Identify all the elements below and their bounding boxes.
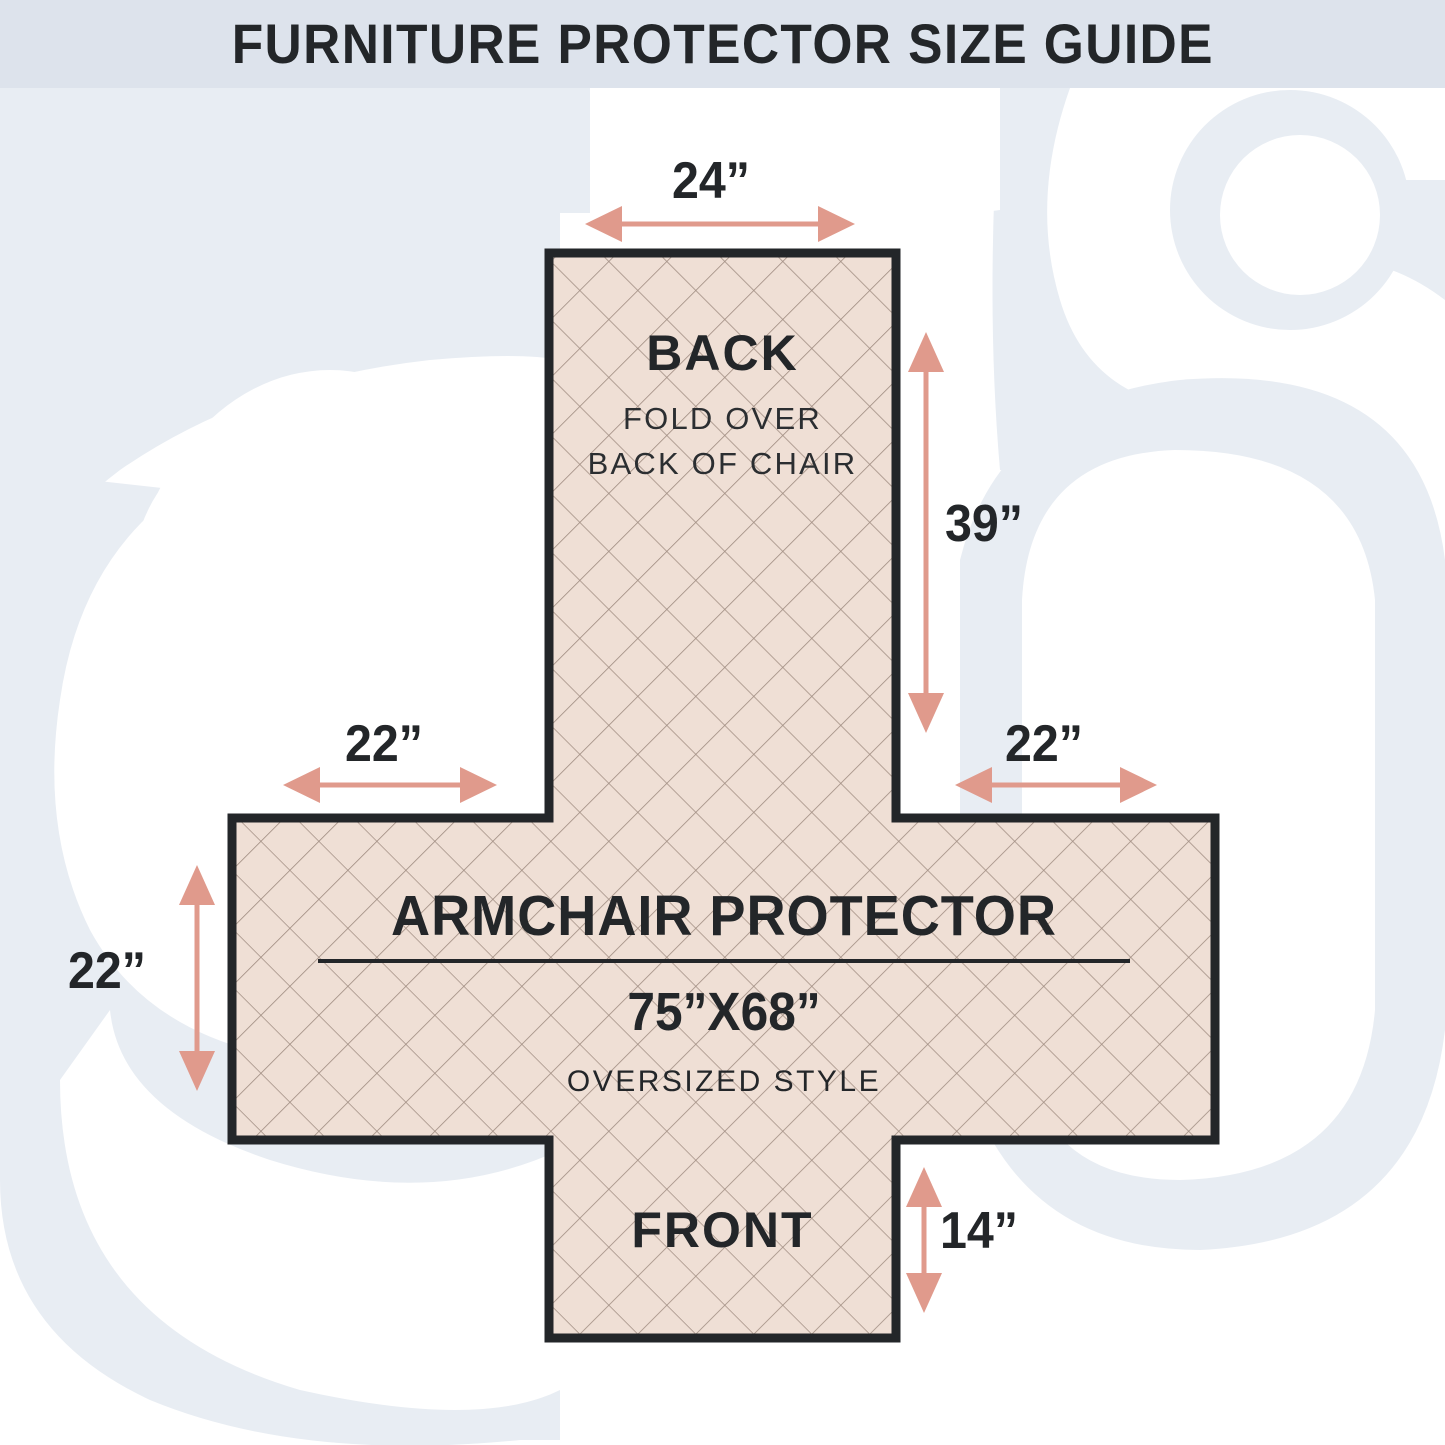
- back-panel-sub-line-2: BACK OF CHAIR: [549, 448, 896, 479]
- front-panel-labels: FRONT: [549, 1205, 896, 1255]
- product-size-label: 75”X68”: [350, 985, 1097, 1039]
- center-label-block: ARMCHAIR PROTECTOR 75”X68” OVERSIZED STY…: [318, 888, 1130, 1097]
- front-panel-heading: FRONT: [549, 1205, 896, 1255]
- title-divider: [318, 959, 1130, 963]
- back-panel-labels: BACK FOLD OVER BACK OF CHAIR: [549, 328, 896, 479]
- dimension-arrow-back-height: [908, 332, 944, 733]
- header-band: FURNITURE PROTECTOR SIZE GUIDE: [0, 0, 1445, 88]
- page-title: FURNITURE PROTECTOR SIZE GUIDE: [231, 16, 1213, 72]
- back-panel-sub-line-1: FOLD OVER: [549, 403, 896, 434]
- dimension-label-left-arm-width: 22”: [345, 718, 423, 770]
- dimension-arrow-back-width: [585, 206, 855, 242]
- dimension-arrow-front-height: [906, 1167, 942, 1313]
- back-panel-heading: BACK: [549, 328, 896, 378]
- dimension-label-front-height: 14”: [940, 1205, 1018, 1257]
- dimension-arrow-arm-height: [179, 865, 215, 1091]
- dimension-label-right-arm-width: 22”: [1005, 718, 1083, 770]
- size-guide-infographic: FURNITURE PROTECTOR SIZE GUIDE: [0, 0, 1445, 1445]
- dimension-label-arm-height: 22”: [68, 945, 146, 997]
- product-style-label: OVERSIZED STYLE: [318, 1067, 1130, 1097]
- dimension-label-back-width: 24”: [672, 155, 750, 207]
- product-name-label: ARMCHAIR PROTECTOR: [338, 888, 1109, 945]
- dimension-label-back-height: 39”: [945, 498, 1023, 550]
